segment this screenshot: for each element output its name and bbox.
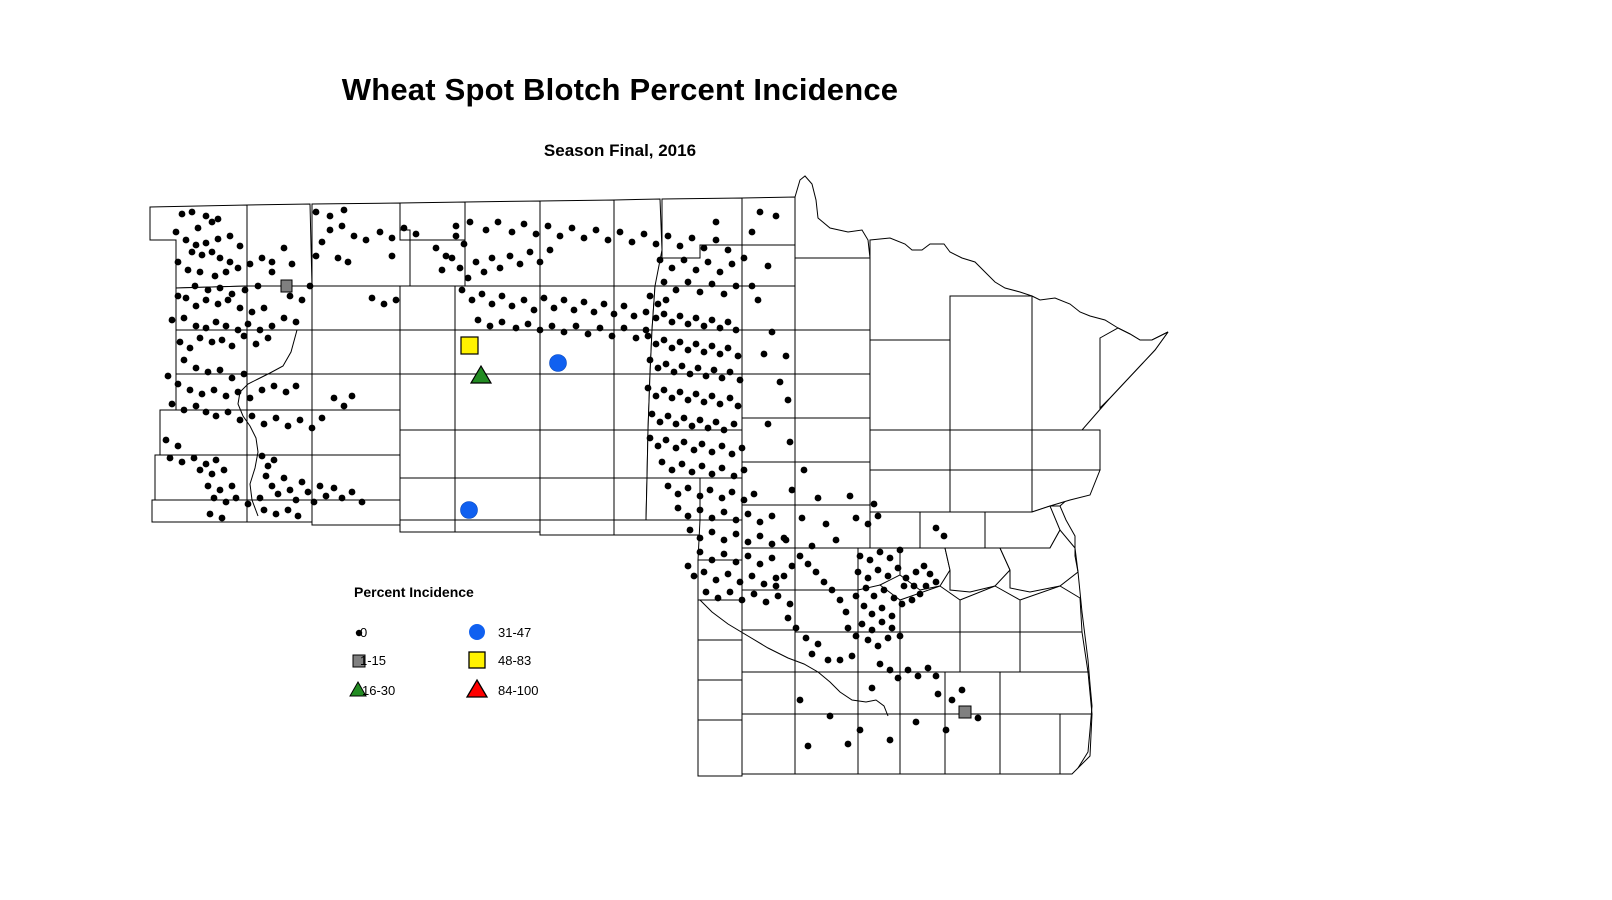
- legend-label-high: 48-83: [498, 654, 531, 668]
- point-blue-circle-north: [550, 355, 567, 372]
- point-blue-circle-south: [461, 502, 478, 519]
- legend-title: Percent Incidence: [354, 584, 474, 600]
- legend-label-high-mid: 31-47: [498, 626, 531, 640]
- legend-label-max: 84-100: [498, 684, 538, 698]
- point-gray-square-mn: [959, 706, 971, 718]
- map-svg: [0, 0, 1612, 900]
- map-canvas: [0, 0, 1612, 900]
- legend-label-zero: 0: [360, 626, 367, 640]
- point-yellow-square: [461, 337, 478, 354]
- point-gray-square-nd: [281, 280, 292, 292]
- legend: Percent Incidence 0 1-15 16-30 31-47 48-…: [340, 578, 570, 713]
- legend-symbol-zero: [346, 622, 372, 642]
- legend-label-mid: 16-30: [362, 684, 395, 698]
- legend-symbol-max: [462, 676, 492, 702]
- legend-symbol-high-mid: [464, 620, 490, 644]
- legend-label-low: 1-15: [360, 654, 386, 668]
- legend-symbol-high: [464, 648, 490, 672]
